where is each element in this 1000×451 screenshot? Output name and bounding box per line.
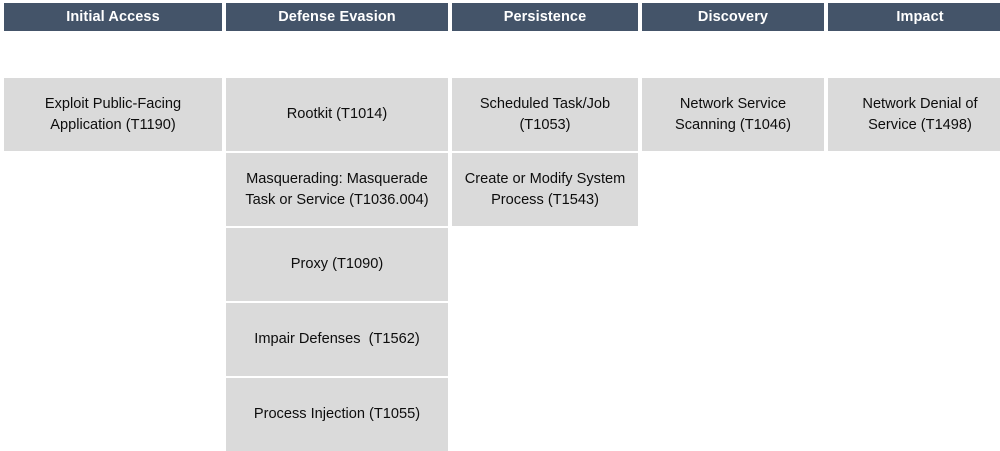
column-header-impact[interactable]: Impact [828, 3, 1000, 31]
column-header-persistence[interactable]: Persistence [452, 3, 638, 31]
empty-cell [828, 228, 1000, 301]
technique-cell[interactable]: Impair Defenses (T1562) [226, 303, 448, 376]
column-header-initial-access[interactable]: Initial Access [4, 3, 222, 31]
technique-cell[interactable]: Masquerading: Masquerade Task or Service… [226, 153, 448, 226]
empty-cell [828, 153, 1000, 226]
empty-cell [642, 378, 824, 451]
technique-cell[interactable]: Scheduled Task/Job (T1053) [452, 78, 638, 151]
technique-cell[interactable]: Process Injection (T1055) [226, 378, 448, 451]
column-header-discovery[interactable]: Discovery [642, 3, 824, 31]
empty-cell [642, 153, 824, 226]
technique-cell[interactable]: Create or Modify System Process (T1543) [452, 153, 638, 226]
empty-cell [828, 303, 1000, 376]
empty-cell [452, 303, 638, 376]
empty-cell [4, 378, 222, 451]
empty-cell [452, 228, 638, 301]
empty-cell [828, 378, 1000, 451]
technique-cell[interactable]: Network Denial of Service (T1498) [828, 78, 1000, 151]
empty-cell [642, 303, 824, 376]
matrix-grid: Initial Access Defense Evasion Persisten… [4, 3, 1000, 451]
technique-cell[interactable]: Proxy (T1090) [226, 228, 448, 301]
technique-cell[interactable]: Network Service Scanning (T1046) [642, 78, 824, 151]
empty-cell [4, 153, 222, 226]
technique-cell[interactable]: Exploit Public-Facing Application (T1190… [4, 78, 222, 151]
empty-cell [4, 303, 222, 376]
column-header-defense-evasion[interactable]: Defense Evasion [226, 3, 448, 31]
empty-cell [452, 378, 638, 451]
empty-cell [4, 228, 222, 301]
technique-matrix: Initial Access Defense Evasion Persisten… [0, 0, 1000, 403]
technique-cell[interactable]: Rootkit (T1014) [226, 78, 448, 151]
empty-cell [642, 228, 824, 301]
